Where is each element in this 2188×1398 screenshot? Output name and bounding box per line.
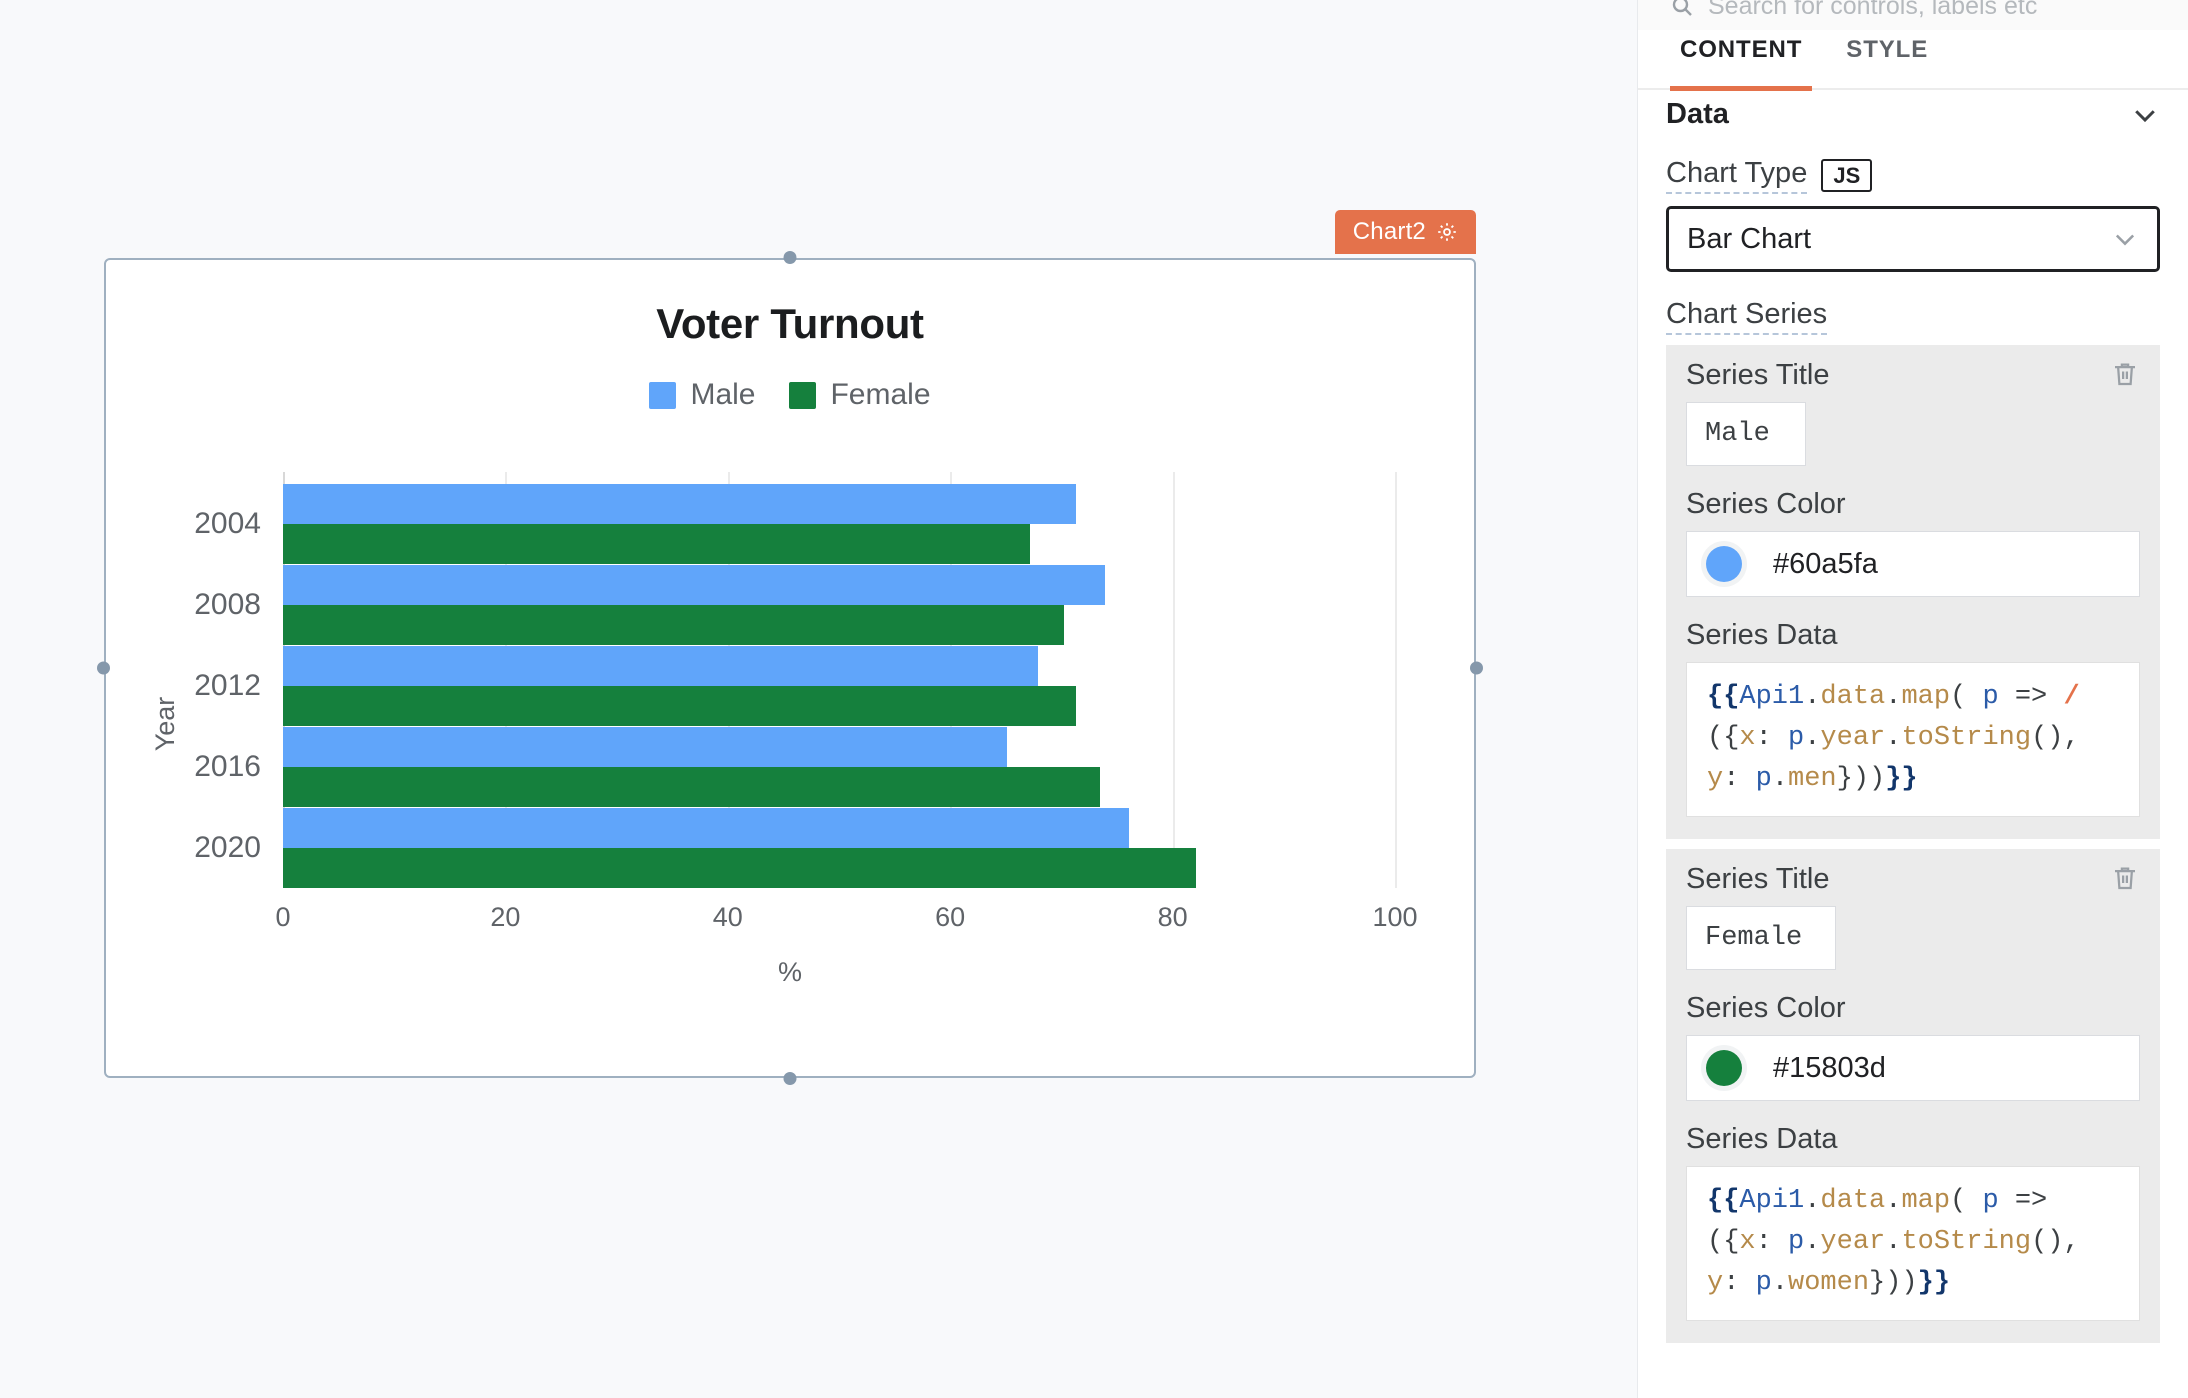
color-swatch [1706,546,1742,582]
app-root: Chart2 Voter Turnout Male [0,0,2188,1398]
search-icon [1670,0,1694,18]
series-color-value: #15803d [1773,1052,1886,1085]
bar[interactable] [283,565,1105,605]
x-axis-tick-label: 100 [1372,902,1417,933]
chevron-down-icon[interactable] [2111,225,2139,253]
series-color-label: Series Color [1686,992,2140,1025]
series-card[interactable]: Series Title Male Series Color #60a5fa [1666,345,2160,839]
chart-title: Voter Turnout [104,300,1476,348]
y-axis-tick-label: 2008 [194,588,261,622]
legend-label: Female [830,378,930,412]
chart-legend: Male Female [104,378,1476,412]
series-title-row: Series Title [1686,863,2140,896]
x-axis-tick-label: 20 [490,902,520,933]
chevron-down-icon[interactable] [2130,100,2160,130]
chart-type-value: Bar Chart [1687,223,1811,256]
series-title-input[interactable]: Female [1686,906,1836,970]
bar-group[interactable]: 2008 [283,565,1395,646]
y-axis-tick-label: 2020 [194,831,261,865]
y-axis-tick-label: 2012 [194,669,261,703]
widget-name-badge[interactable]: Chart2 [1335,210,1476,254]
bar[interactable] [283,646,1038,686]
series-color-input[interactable]: #60a5fa [1686,531,2140,597]
js-badge[interactable]: JS [1821,159,1872,192]
y-axis-title: Year [150,697,181,752]
trash-icon[interactable] [2110,359,2140,389]
y-axis-tick-label: 2004 [194,507,261,541]
bar-rows: 20042008201220162020 [283,484,1395,888]
series-color-value: #60a5fa [1773,548,1878,581]
section-title: Data [1666,98,1729,131]
property-panel[interactable]: Search for controls, labels etc CONTENT … [1637,0,2188,1398]
x-axis-tick-label: 80 [1158,902,1188,933]
panel-tabs[interactable]: CONTENT STYLE [1638,30,2188,90]
bar[interactable] [283,808,1129,848]
legend-item[interactable]: Male [649,378,755,412]
series-data-code[interactable]: {{Api1.data.map( p =>({x: p.year.toStrin… [1686,1166,2140,1321]
x-axis-ticks: 020406080100 [104,902,1476,942]
x-axis-tick-label: 40 [713,902,743,933]
legend-swatch-female [789,382,816,409]
data-section-header[interactable]: Data [1666,92,2160,139]
gridline [1395,472,1397,888]
legend-swatch-male [649,382,676,409]
x-axis-title: % [104,957,1476,988]
tab-content[interactable]: CONTENT [1670,30,1812,91]
bar-group[interactable]: 2016 [283,726,1395,807]
series-data-label: Series Data [1686,619,2140,652]
bar[interactable] [283,524,1030,564]
search-input[interactable]: Search for controls, labels etc [1708,0,2037,21]
series-data-label: Series Data [1686,1123,2140,1156]
legend-item[interactable]: Female [789,378,930,412]
color-swatch-ring[interactable] [1701,1045,1747,1091]
tab-style[interactable]: STYLE [1836,30,1938,86]
series-color-label: Series Color [1686,488,2140,521]
x-axis-tick-label: 0 [275,902,290,933]
bar-group[interactable]: 2020 [283,807,1395,888]
chart-type-label-row: Chart Type JS [1666,157,2160,194]
x-axis-tick-label: 60 [935,902,965,933]
plot-inner: 20042008201220162020 [283,484,1395,888]
series-title-row: Series Title [1686,359,2140,392]
search-bar[interactable]: Search for controls, labels etc [1638,0,2188,30]
editor-canvas[interactable]: Chart2 Voter Turnout Male [0,0,1549,1398]
chart-type-select[interactable]: Bar Chart [1666,206,2160,272]
bar[interactable] [283,484,1076,524]
bar[interactable] [283,767,1100,807]
bar-group[interactable]: 2012 [283,646,1395,727]
bar[interactable] [283,605,1064,645]
trash-icon[interactable] [2110,863,2140,893]
bar-chart[interactable]: Voter Turnout Male Female Year [104,258,1476,1078]
chart-widget[interactable]: Chart2 Voter Turnout Male [104,258,1476,1078]
bar[interactable] [283,848,1196,888]
y-axis-tick-label: 2016 [194,750,261,784]
widget-name-label: Chart2 [1353,218,1426,246]
series-title-label: Series Title [1686,359,1829,392]
bar-group[interactable]: 2004 [283,484,1395,565]
bar[interactable] [283,727,1007,767]
chart-plot-area: Year 20042008201220162020 020406080100 % [104,464,1476,984]
series-card[interactable]: Series Title Female Series Color #15803d [1666,849,2160,1343]
series-data-code[interactable]: {{Api1.data.map( p => /({x: p.year.toStr… [1686,662,2140,817]
series-title-input[interactable]: Male [1686,402,1806,466]
series-color-input[interactable]: #15803d [1686,1035,2140,1101]
chart-series-label: Chart Series [1666,298,1827,335]
legend-label: Male [690,378,755,412]
panel-body: Data Chart Type JS Bar Chart [1638,92,2188,1398]
color-swatch [1706,1050,1742,1086]
bar[interactable] [283,686,1076,726]
gear-icon[interactable] [1436,221,1458,243]
series-title-label: Series Title [1686,863,1829,896]
chart-type-label: Chart Type [1666,157,1807,194]
color-swatch-ring[interactable] [1701,541,1747,587]
